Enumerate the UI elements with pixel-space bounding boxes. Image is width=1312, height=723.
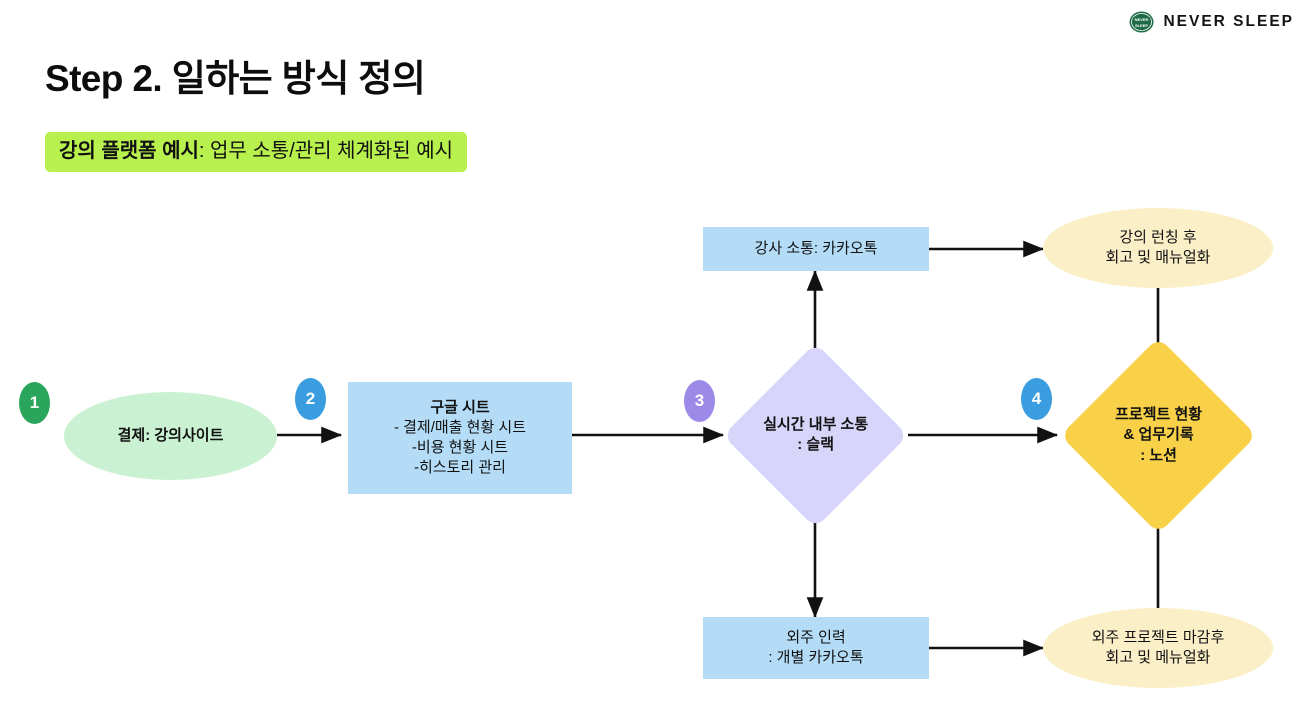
node-slack-label: 실시간 내부 소통 : 슬랙 — [750, 415, 881, 456]
step-badge-3-label: 3 — [695, 391, 704, 411]
node-google-sheet-line1: - 결제/매출 현황 시트 — [394, 418, 526, 438]
node-google-sheet[interactable]: 구글 시트 - 결제/매출 현황 시트 -비용 현황 시트 -히스토리 관리 — [348, 382, 572, 494]
node-launch-retro-label: 강의 런칭 후 회고 및 매뉴얼화 — [1106, 228, 1211, 269]
node-outsourcing-kakao-label: 외주 인력 : 개별 카카오톡 — [768, 628, 863, 669]
step-badge-2: 2 — [295, 378, 326, 420]
step-badge-2-label: 2 — [306, 389, 315, 409]
node-outsourcing-retro-label: 외주 프로젝트 마감후 회고 및 메뉴얼화 — [1092, 628, 1225, 669]
step-badge-1-label: 1 — [30, 393, 39, 413]
step-badge-3: 3 — [684, 380, 715, 422]
node-google-sheet-line2: -비용 현황 시트 — [412, 438, 508, 458]
node-notion[interactable]: 프로젝트 현황 & 업무기록 : 노션 — [1060, 337, 1257, 534]
node-outsourcing-retro[interactable]: 외주 프로젝트 마감후 회고 및 메뉴얼화 — [1043, 608, 1273, 688]
node-launch-retro[interactable]: 강의 런칭 후 회고 및 매뉴얼화 — [1043, 208, 1273, 288]
step-badge-4-label: 4 — [1032, 389, 1041, 409]
step-badge-4: 4 — [1021, 378, 1052, 420]
node-instructor-kakao[interactable]: 강사 소통: 카카오톡 — [703, 227, 929, 271]
step-badge-1: 1 — [19, 382, 50, 424]
node-slack[interactable]: 실시간 내부 소통 : 슬랙 — [723, 343, 908, 528]
node-instructor-kakao-label: 강사 소통: 카카오톡 — [755, 239, 878, 259]
node-payment[interactable]: 결제: 강의사이트 — [64, 392, 277, 480]
node-google-sheet-title: 구글 시트 — [430, 398, 489, 418]
node-google-sheet-line3: -히스토리 관리 — [414, 458, 506, 478]
flowchart-canvas: 결제: 강의사이트 구글 시트 - 결제/매출 현황 시트 -비용 현황 시트 … — [0, 0, 1312, 723]
node-notion-label: 프로젝트 현황 & 업무기록 : 노션 — [1089, 405, 1228, 466]
node-payment-label: 결제: 강의사이트 — [118, 426, 224, 446]
node-outsourcing-kakao[interactable]: 외주 인력 : 개별 카카오톡 — [703, 617, 929, 679]
